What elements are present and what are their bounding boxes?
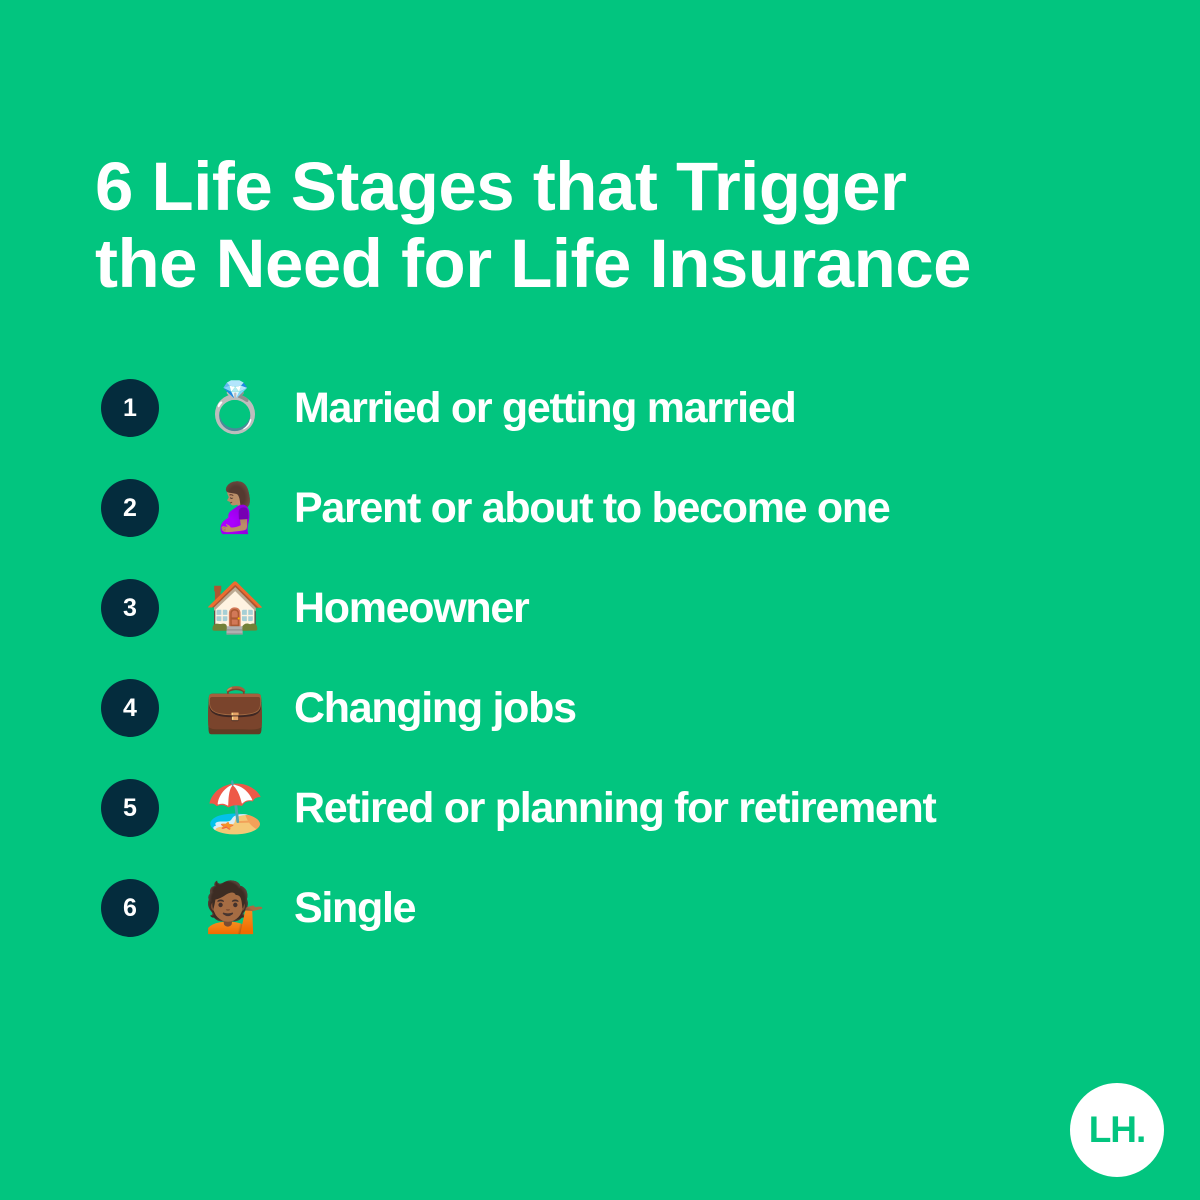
stage-label: Parent or about to become one [294, 458, 889, 558]
ring-icon: 💍 [203, 378, 267, 438]
stage-label: Retired or planning for retirement [294, 758, 936, 858]
stage-label: Homeowner [294, 558, 528, 658]
stage-number-badge: 2 [101, 479, 159, 537]
stage-number-badge: 3 [101, 579, 159, 637]
stage-number-label: 4 [123, 696, 137, 721]
infographic-canvas: 6 Life Stages that Trigger the Need for … [0, 0, 1200, 1200]
stage-number-badge: 4 [101, 679, 159, 737]
stage-number-label: 2 [123, 496, 137, 521]
stage-number-badge: 5 [101, 779, 159, 837]
stage-label: Married or getting married [294, 358, 795, 458]
pregnant-woman-icon: 🤰🏽 [203, 478, 267, 538]
stage-number-badge: 6 [101, 879, 159, 937]
list-item: 3 🏠 Homeowner [0, 558, 1200, 658]
stage-number-label: 5 [123, 796, 137, 821]
stage-number-label: 3 [123, 596, 137, 621]
stage-label: Changing jobs [294, 658, 576, 758]
beach-with-umbrella-icon: 🏖️ [203, 778, 267, 838]
list-item: 4 💼 Changing jobs [0, 658, 1200, 758]
stage-label: Single [294, 858, 415, 958]
list-item: 5 🏖️ Retired or planning for retirement [0, 758, 1200, 858]
logo-text: LH. [1089, 1111, 1146, 1148]
stage-list: 1 💍 Married or getting married 2 🤰🏽 Pare… [0, 358, 1200, 958]
page-title-line-2: the Need for Life Insurance [95, 225, 1135, 302]
page-title-line-1: 6 Life Stages that Trigger [95, 148, 1135, 225]
list-item: 6 💁🏾 Single [0, 858, 1200, 958]
list-item: 2 🤰🏽 Parent or about to become one [0, 458, 1200, 558]
stage-number-label: 6 [123, 896, 137, 921]
stage-number-badge: 1 [101, 379, 159, 437]
lifehacker-logo: LH. [1070, 1083, 1164, 1177]
list-item: 1 💍 Married or getting married [0, 358, 1200, 458]
person-tipping-hand-icon: 💁🏾 [203, 878, 267, 938]
stage-number-label: 1 [123, 396, 137, 421]
briefcase-icon: 💼 [203, 678, 267, 738]
house-icon: 🏠 [203, 578, 267, 638]
page-title: 6 Life Stages that Trigger the Need for … [95, 148, 1135, 302]
